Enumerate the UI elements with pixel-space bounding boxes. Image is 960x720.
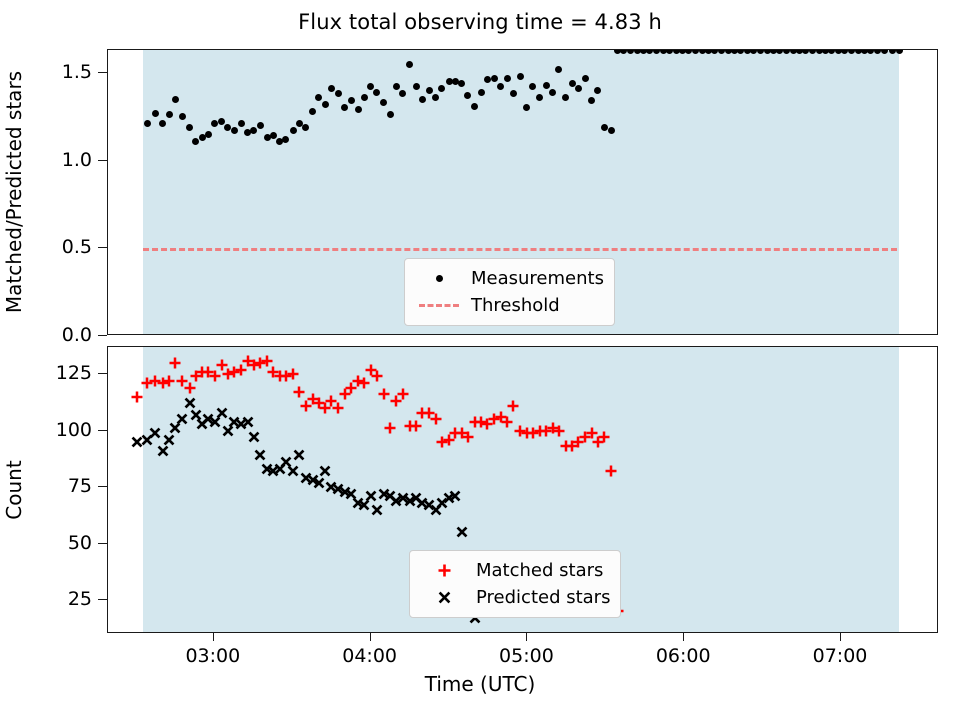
plus-icon (418, 563, 470, 578)
x-axis-tick (213, 633, 214, 641)
data-point (292, 448, 306, 462)
data-point (331, 401, 345, 415)
y-axis-tick-label: 75 (30, 475, 92, 497)
legend-item-predicted-stars: Predicted stars (418, 584, 610, 611)
data-point (783, 49, 790, 54)
figure: Flux total observing time = 4.83 h 0.00.… (0, 0, 960, 720)
y-axis-tick-label: 125 (30, 362, 92, 384)
data-point (328, 85, 335, 92)
data-point (409, 419, 423, 433)
data-point (549, 89, 556, 96)
data-point (253, 448, 267, 462)
data-point (361, 94, 368, 101)
y-axis-tick (98, 373, 107, 374)
y-axis-tick (98, 543, 107, 544)
data-point (364, 489, 378, 503)
y-axis-tick-label: 1.5 (30, 61, 92, 83)
data-point (370, 503, 384, 517)
data-point (231, 127, 238, 134)
legend-label: Predicted stars (470, 587, 610, 608)
legend-item-measurements: Measurements (413, 265, 604, 292)
data-point (396, 387, 410, 401)
x-axis-tick-label: 03:00 (185, 645, 240, 667)
y-axis-tick (98, 247, 107, 248)
data-point (130, 390, 144, 404)
data-point (192, 138, 199, 145)
data-point (290, 127, 297, 134)
legend-label: Measurements (465, 268, 604, 289)
data-point (419, 96, 426, 103)
data-point (318, 464, 332, 478)
data-point (517, 73, 524, 80)
data-point (355, 106, 362, 113)
data-point (737, 49, 744, 54)
data-point (162, 374, 176, 388)
y-axis-tick (98, 486, 107, 487)
data-point (461, 430, 475, 444)
data-point (429, 412, 443, 426)
data-point (152, 110, 159, 117)
y-axis-tick-label: 100 (30, 419, 92, 441)
data-point (506, 399, 520, 413)
data-point (247, 430, 261, 444)
legend-item-threshold: Threshold (413, 292, 604, 319)
data-point (448, 489, 462, 503)
data-point (896, 49, 903, 54)
y-axis-tick (98, 599, 107, 600)
x-axis-tick (840, 633, 841, 641)
y-axis-tick (98, 335, 107, 336)
threshold-line (143, 248, 897, 251)
y-axis-tick (98, 430, 107, 431)
y-axis-tick (98, 72, 107, 73)
ratio-panel-y-axis-label: Matched/Predicted stars (2, 71, 26, 313)
data-point (504, 75, 511, 82)
x-axis-tick-label: 07:00 (813, 645, 868, 667)
x-axis-tick (683, 633, 684, 641)
data-point (432, 94, 439, 101)
data-point (543, 82, 550, 89)
x-axis-label: Time (UTC) (0, 672, 960, 696)
data-point (455, 525, 469, 539)
data-point (413, 83, 420, 90)
legend-label: Threshold (465, 295, 560, 316)
count-panel-y-axis-label: Count (2, 460, 26, 519)
data-point (186, 124, 193, 131)
y-axis-tick-label: 25 (30, 588, 92, 610)
data-point (286, 367, 300, 381)
data-point (666, 49, 673, 54)
dot-icon (413, 275, 465, 282)
data-point (309, 108, 316, 115)
y-axis-tick-label: 1.0 (30, 149, 92, 171)
x-axis-tick (526, 633, 527, 641)
data-point (292, 385, 306, 399)
ratio-panel-legend: Measurements Threshold (404, 258, 615, 326)
data-point (692, 49, 699, 54)
data-point (175, 412, 189, 426)
y-axis-tick-label: 0.0 (30, 324, 92, 346)
data-point (373, 89, 380, 96)
y-axis-tick-label: 50 (30, 532, 92, 554)
data-point (322, 101, 329, 108)
data-point (168, 356, 182, 370)
data-point (302, 124, 309, 131)
data-point (172, 96, 179, 103)
data-point (500, 415, 514, 429)
data-point (370, 369, 384, 383)
x-axis-tick-label: 06:00 (656, 645, 711, 667)
data-point (458, 80, 465, 87)
data-point (148, 426, 162, 440)
data-point (881, 49, 888, 54)
data-point (478, 89, 485, 96)
data-point (757, 49, 764, 54)
x-axis-tick-label: 04:00 (342, 645, 397, 667)
legend-label: Matched stars (470, 560, 603, 581)
x-axis-tick-label: 05:00 (499, 645, 554, 667)
data-point (601, 124, 608, 131)
data-point (552, 424, 566, 438)
data-point (205, 131, 212, 138)
chart-title: Flux total observing time = 4.83 h (0, 10, 960, 34)
data-point (608, 127, 615, 134)
data-point (348, 97, 355, 104)
data-point (383, 421, 397, 435)
legend-item-matched-stars: Matched stars (418, 557, 610, 584)
dashed-line-icon (413, 304, 465, 307)
data-point (241, 415, 255, 429)
data-point (604, 464, 618, 478)
data-point (426, 87, 433, 94)
y-axis-tick (98, 160, 107, 161)
data-point (828, 49, 835, 54)
count-panel-legend: Matched stars Predicted stars (409, 550, 621, 618)
data-point (238, 120, 245, 127)
data-point (848, 49, 855, 54)
data-point (406, 61, 413, 68)
y-axis-tick-label: 0.5 (30, 236, 92, 258)
cross-icon (418, 590, 470, 605)
data-point (144, 120, 151, 127)
data-point (582, 75, 589, 82)
data-point (575, 85, 582, 92)
x-axis-tick (370, 633, 371, 641)
data-point (491, 75, 498, 82)
data-point (597, 430, 611, 444)
data-point (257, 122, 264, 129)
